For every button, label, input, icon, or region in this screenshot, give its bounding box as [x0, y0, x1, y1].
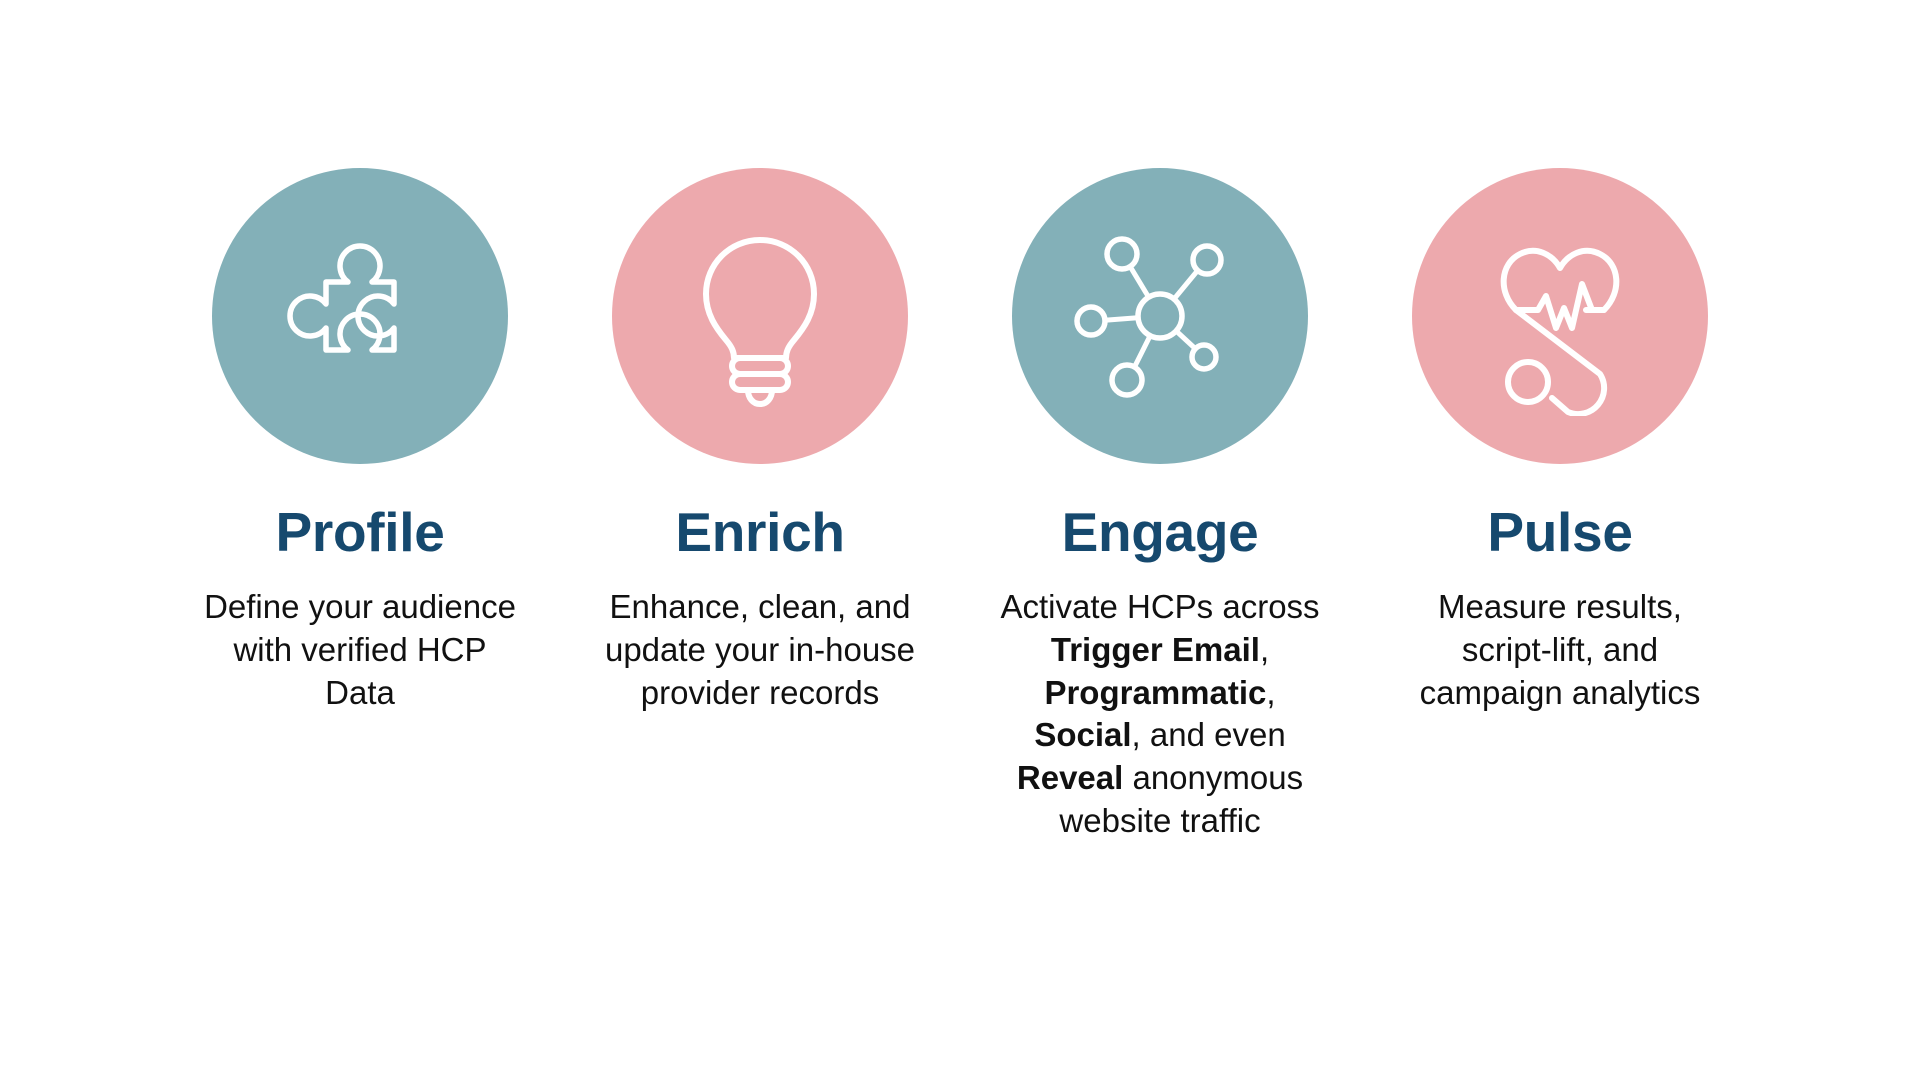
- heart-pulse-stethoscope-icon: [1460, 216, 1660, 416]
- feature-column-enrich[interactable]: Enrich Enhance, clean, and update your i…: [560, 168, 960, 714]
- pulse-description: Measure results, script-lift, and campai…: [1400, 586, 1720, 715]
- body-text: Define your audience with verified HCP D…: [204, 588, 516, 711]
- puzzle-piece-icon: [260, 216, 460, 416]
- emphasis-text: Programmatic: [1044, 674, 1266, 711]
- body-text: Enhance, clean, and update your in-house…: [605, 588, 915, 711]
- body-text: , and even: [1132, 716, 1286, 753]
- feature-column-engage[interactable]: Engage Activate HCPs across Trigger Emai…: [960, 168, 1360, 843]
- engage-description: Activate HCPs across Trigger Email, Prog…: [1000, 586, 1320, 843]
- pulse-title: Pulse: [1487, 504, 1632, 562]
- enrich-title: Enrich: [675, 504, 844, 562]
- body-text: ,: [1260, 631, 1269, 668]
- feature-column-profile[interactable]: Profile Define your audience with verifi…: [160, 168, 560, 714]
- lightbulb-icon: [660, 216, 860, 416]
- network-nodes-icon: [1060, 216, 1260, 416]
- feature-columns: Profile Define your audience with verifi…: [0, 0, 1920, 1080]
- engage-icon-circle: [1012, 168, 1308, 464]
- feature-column-pulse[interactable]: Pulse Measure results, script-lift, and …: [1360, 168, 1760, 714]
- emphasis-text: Reveal: [1017, 759, 1123, 796]
- profile-description: Define your audience with verified HCP D…: [200, 586, 520, 715]
- enrich-description: Enhance, clean, and update your in-house…: [600, 586, 920, 715]
- body-text: ,: [1266, 674, 1275, 711]
- slide-canvas: Profile Define your audience with verifi…: [0, 0, 1920, 1080]
- pulse-icon-circle: [1412, 168, 1708, 464]
- body-text: Measure results, script-lift, and campai…: [1420, 588, 1701, 711]
- profile-title: Profile: [275, 504, 444, 562]
- body-text: Activate HCPs across: [1000, 588, 1319, 625]
- profile-icon-circle: [212, 168, 508, 464]
- emphasis-text: Social: [1034, 716, 1131, 753]
- engage-title: Engage: [1062, 504, 1259, 562]
- enrich-icon-circle: [612, 168, 908, 464]
- emphasis-text: Trigger Email: [1051, 631, 1260, 668]
